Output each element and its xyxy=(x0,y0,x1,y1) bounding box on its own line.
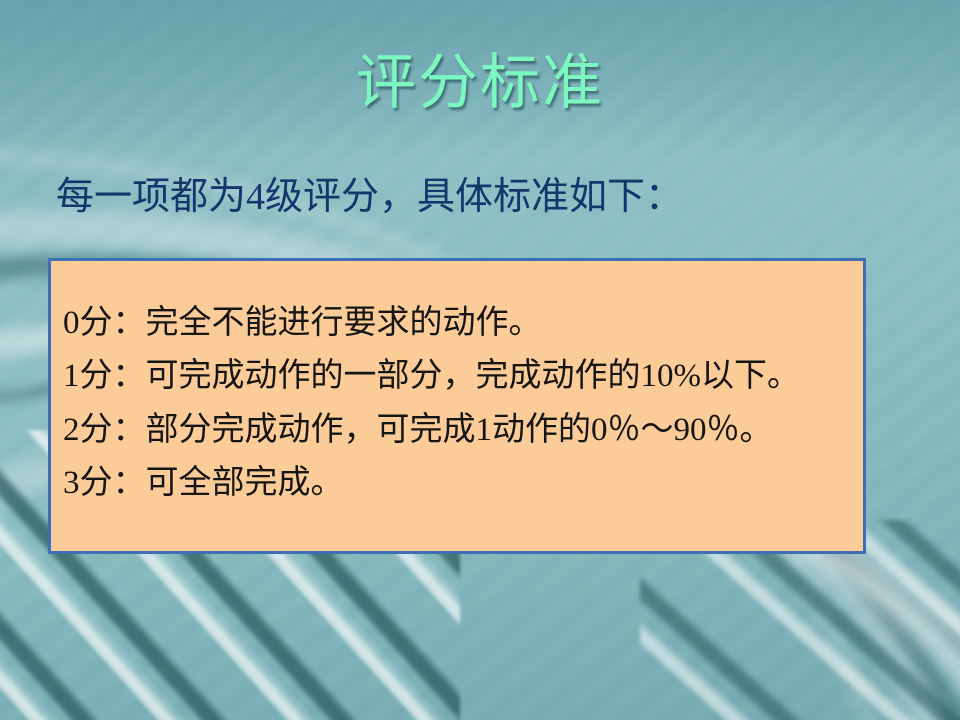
score-line-1: 1分：可完成动作的一部分，完成动作的10%以下。 xyxy=(63,350,863,403)
slide-title: 评分标准 xyxy=(0,52,960,115)
presentation-slide: 评分标准 每一项都为4级评分，具体标准如下： 0分：完全不能进行要求的动作。 1… xyxy=(0,0,960,720)
slide-subtitle: 每一项都为4级评分，具体标准如下： xyxy=(56,175,683,221)
score-line-3: 3分：可全部完成。 xyxy=(63,457,863,510)
scoring-criteria-box: 0分：完全不能进行要求的动作。 1分：可完成动作的一部分，完成动作的10%以下。… xyxy=(48,258,866,554)
score-line-2: 2分：部分完成动作，可完成1动作的0％～90％。 xyxy=(63,404,863,457)
score-line-0: 0分：完全不能进行要求的动作。 xyxy=(63,297,863,350)
slide-content: 评分标准 每一项都为4级评分，具体标准如下： 0分：完全不能进行要求的动作。 1… xyxy=(0,0,960,720)
